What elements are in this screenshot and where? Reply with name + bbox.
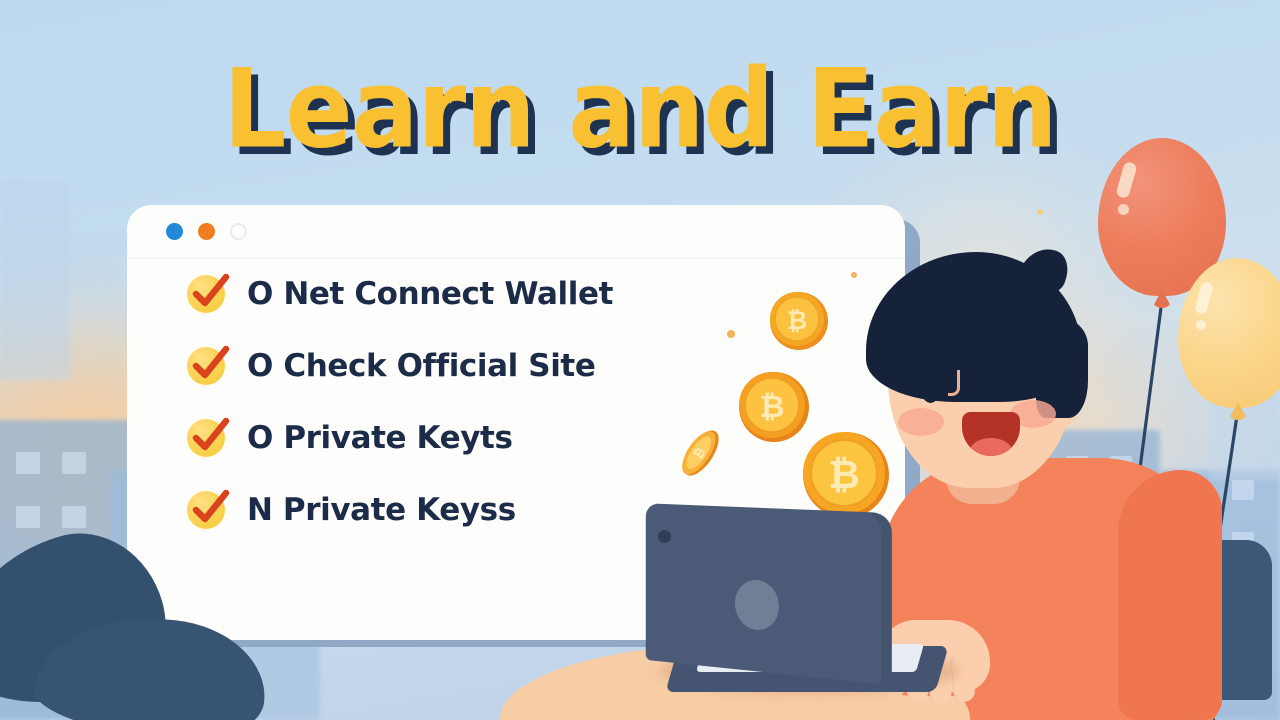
checklist-item-label: O Check Official Site [247,348,595,384]
boy-torso-shade [1118,470,1222,720]
building-window [16,452,40,474]
boy-tongue [970,438,1012,456]
check-badge-icon [185,416,229,460]
svg-text:₿: ₿ [759,389,784,425]
checklist-item[interactable]: O Private Keyts [185,415,613,461]
check-badge-icon [185,488,229,532]
building-window [62,452,86,474]
sparkle-dot [727,330,735,338]
boy-eye-right [979,373,998,401]
checklist-item-label: O Private Keyts [247,420,513,456]
building-window [16,506,40,528]
checklist-item-label: N Private Keyss [247,492,516,528]
bitcoin-coin-small-top: ₿ [768,290,830,352]
browser-titlebar [127,205,905,259]
building-window [62,506,86,528]
window-dot-blue[interactable] [166,223,183,240]
check-badge-icon [185,344,229,388]
checklist: O Net Connect Wallet O Check Official Si… [185,271,613,533]
balloon-orange-highlight-dot [1118,204,1129,215]
window-dot-empty[interactable] [230,223,247,240]
boy-mouth [962,412,1020,456]
bitcoin-coin-large: ₿ [800,428,892,520]
building [0,180,70,380]
poster-canvas: Learn and Earn O Net Connect Wallet [0,0,1280,720]
boy-cheek-left [898,408,944,436]
boy-nose [948,370,960,396]
checklist-item[interactable]: O Net Connect Wallet [185,271,613,317]
checklist-item-label: O Net Connect Wallet [247,276,613,312]
boy-eye-left [921,375,940,403]
checklist-item[interactable]: N Private Keyss [185,487,613,533]
svg-text:₿: ₿ [787,306,807,335]
page-title: Learn and Earn [0,46,1280,173]
laptop-camera-dot [658,530,671,543]
window-dot-orange[interactable] [198,223,215,240]
boy-eyebrow-right [972,342,1013,355]
check-badge-icon [185,272,229,316]
sparkle-dot [851,272,857,278]
balloon-yellow-highlight-dot [1196,320,1206,330]
sparkle-dot [1037,209,1043,215]
building-window [1232,480,1254,500]
svg-text:₿: ₿ [828,453,860,498]
checklist-item[interactable]: O Check Official Site [185,343,613,389]
